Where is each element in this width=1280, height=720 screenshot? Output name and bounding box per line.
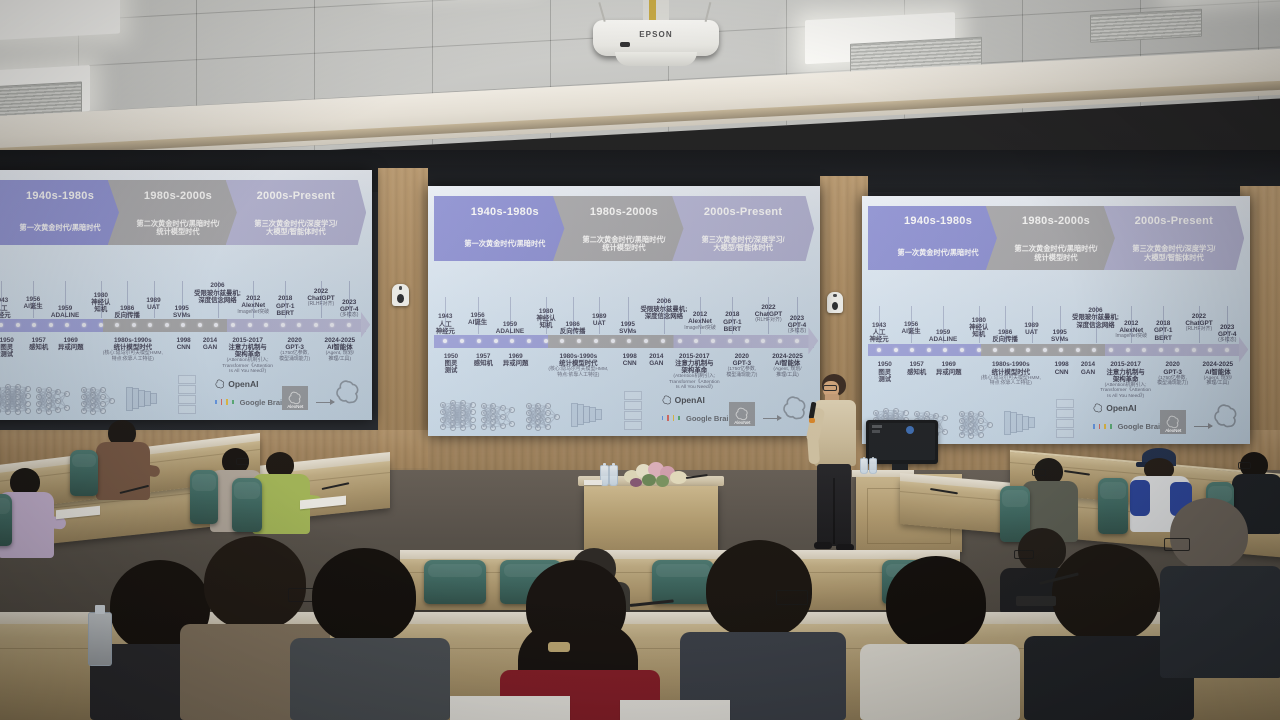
event-tick	[797, 297, 798, 334]
projection-screen-right: 1940s-1980s第一次黄金时代/黑暗时代1980s-2000s第二次黄金时…	[862, 196, 1250, 444]
event-tick	[1096, 306, 1097, 343]
podium-monitor	[866, 420, 938, 464]
network-edge	[452, 427, 462, 428]
cnn-layer	[150, 393, 157, 404]
water-bottle	[869, 458, 877, 474]
network-edge	[7, 411, 17, 412]
era-chevron-3: 2000s-Present第三次黄金时代/深度学习/大模型/智能体时代	[672, 196, 814, 261]
event-label: 异或问题	[936, 369, 962, 376]
cnn-layer	[595, 409, 602, 420]
era-chevron-2: 1980s-2000s第二次黄金时代/黑暗时代/统计模型时代	[108, 180, 249, 245]
cnn-diagram	[126, 387, 166, 413]
era-title: 1940s-1980s	[471, 206, 539, 218]
event-tick	[768, 297, 769, 334]
timeline-event-below: 1998CNN	[1055, 361, 1069, 375]
transformer-diagram	[178, 375, 194, 415]
event-label: CNN	[1055, 369, 1069, 376]
era-chevron-1: 1940s-1980s第一次黄金时代/黑暗时代	[0, 180, 130, 245]
monitor-badge	[906, 426, 914, 434]
ceiling-tile	[1258, 0, 1280, 49]
tumbler	[88, 612, 112, 666]
event-label: 异或问题	[503, 360, 529, 367]
event-tick	[510, 297, 511, 334]
event-year: 1998	[623, 353, 637, 360]
alexnet-logo: AlexNet	[729, 402, 755, 426]
event-tick	[664, 297, 665, 334]
neural-network-diagram	[440, 400, 476, 430]
era-subtitle: 第一次黄金时代/黑暗时代	[20, 224, 101, 232]
timeline-event-below: 1957感知机	[29, 337, 48, 351]
event-tick	[1032, 306, 1033, 343]
era-title: 2000s-Present	[257, 190, 336, 202]
event-tick	[218, 281, 219, 318]
timeline-arrow	[1239, 336, 1249, 363]
era-chevron-2: 1980s-2000s第二次黄金时代/黑暗时代/统计模型时代	[553, 196, 695, 261]
era-subtitle: 第二次黄金时代/黑暗时代/统计模型时代	[1014, 245, 1097, 262]
openai-logo: OpenAI	[662, 395, 705, 405]
event-tick	[285, 281, 286, 318]
ceiling-tile	[314, 46, 433, 99]
wood-wall-left	[378, 168, 428, 468]
event-label: 感知机	[474, 360, 493, 367]
neural-network-diagram	[36, 386, 70, 414]
neural-network-diagram	[959, 410, 993, 438]
timeline-arrow	[808, 327, 818, 354]
event-tick	[879, 306, 880, 343]
event-year: 2020	[279, 337, 310, 344]
alexnet-label: AlexNet	[734, 420, 750, 426]
transformer-diagram	[624, 391, 640, 431]
timeline-dot	[1126, 348, 1130, 352]
event-tick	[1227, 306, 1228, 343]
ceiling-tile	[432, 40, 551, 93]
event-tick	[628, 297, 629, 334]
era-title: 2000s-Present	[1135, 215, 1214, 227]
timeline-event-below: 1969异或问题	[936, 361, 962, 375]
event-label: 异或问题	[58, 344, 84, 351]
event-tick	[943, 306, 944, 343]
ceiling-tile	[314, 0, 433, 53]
era-title: 1980s-2000s	[144, 190, 212, 202]
chair	[190, 470, 218, 524]
head	[1170, 498, 1248, 570]
era-chevron-1: 1940s-1980s第一次黄金时代/黑暗时代	[868, 206, 1009, 270]
projection-screen-left: 1940s-1980s第一次黄金时代/黑暗时代1980s-2000s第二次黄金时…	[0, 170, 372, 420]
openai-label: OpenAI	[675, 395, 705, 405]
event-tick	[1060, 306, 1061, 343]
cnn-diagram	[571, 403, 611, 429]
era-subtitle: 第一次黄金时代/黑暗时代	[464, 240, 545, 248]
event-tick	[1, 281, 2, 318]
event-tick	[182, 281, 183, 318]
slide-era-header: 1940s-1980s第一次黄金时代/黑暗时代1980s-2000s第二次黄金时…	[434, 196, 814, 261]
transformer-block	[624, 401, 642, 410]
alexnet-logo: AlexNet	[1160, 410, 1186, 434]
google-brain-label: Google Brain	[240, 398, 287, 407]
projector-brand-label: EPSON	[593, 30, 719, 39]
audience-member-front	[290, 548, 450, 720]
era-title: 1940s-1980s	[904, 215, 972, 227]
timeline-event-below: 2014GAN	[649, 353, 663, 367]
torso	[1160, 566, 1280, 678]
glasses-icon	[823, 385, 837, 391]
event-tick	[911, 306, 912, 343]
slide-left: 1940s-1980s第一次黄金时代/黑暗时代1980s-2000s第二次黄金时…	[0, 170, 372, 420]
event-tick	[445, 297, 446, 334]
head	[706, 540, 812, 638]
water-bottle	[609, 465, 618, 486]
audience-member-front	[860, 556, 1020, 720]
timeline-event-below: 1969异或问题	[503, 353, 529, 367]
timeline-dot	[1159, 348, 1163, 352]
presenter	[806, 374, 866, 556]
openai-mark-icon	[1213, 403, 1239, 434]
projection-screen-center: 1940s-1980s第一次黄金时代/黑暗时代1980s-2000s第二次黄金时…	[428, 186, 820, 436]
event-year: 2014	[649, 353, 663, 360]
era-subtitle: 第三次黄金时代/深度学习/大模型/智能体时代	[1132, 245, 1215, 262]
glasses-icon	[1164, 538, 1190, 551]
timeline-event-below: 1950图灵测试	[444, 353, 458, 375]
openai-mark-icon	[782, 395, 808, 426]
transformer-block	[178, 375, 196, 384]
event-tick	[321, 281, 322, 318]
timeline-event-below: 1950图灵测试	[878, 361, 892, 383]
era-title: 1980s-2000s	[1022, 215, 1090, 227]
event-tick	[700, 297, 701, 334]
timeline-dot	[1010, 348, 1014, 352]
event-tick	[349, 281, 350, 318]
arrow-icon	[316, 402, 334, 403]
cnn-layer	[1028, 417, 1035, 428]
transformer-diagram	[1056, 399, 1072, 439]
event-tick	[732, 297, 733, 334]
era-title: 1940s-1980s	[26, 190, 94, 202]
timeline-bar	[868, 344, 1244, 357]
event-year: 2020	[1157, 361, 1188, 368]
era-subtitle: 第二次黄金时代/黑暗时代/统计模型时代	[136, 220, 219, 237]
flower-arrangement	[622, 460, 692, 488]
alexnet-logo: AlexNet	[282, 386, 308, 410]
glasses-icon	[776, 590, 808, 605]
alexnet-label: AlexNet	[287, 404, 303, 410]
era-subtitle: 第一次黄金时代/黑暗时代	[898, 249, 979, 257]
audience-member	[96, 420, 154, 500]
timeline-event-below: 2014GAN	[1081, 361, 1095, 375]
event-label: GAN	[649, 360, 663, 367]
arrow-icon	[763, 418, 781, 419]
transformer-block	[178, 405, 196, 414]
alexnet-label: AlexNet	[1165, 428, 1181, 434]
transformer-block	[178, 395, 196, 404]
event-tick	[101, 281, 102, 318]
event-label: CNN	[177, 344, 191, 351]
event-tick	[979, 306, 980, 343]
timeline-dot	[977, 348, 981, 352]
slide-right: 1940s-1980s第一次黄金时代/黑暗时代1980s-2000s第二次黄金时…	[862, 196, 1250, 444]
projector: EPSON	[593, 18, 719, 66]
timeline-event-below: 1950图灵测试	[0, 337, 14, 359]
event-year: 2020	[726, 353, 757, 360]
arm	[1130, 480, 1150, 516]
neural-network-diagram	[526, 402, 560, 430]
google-brain-logo: Google Brain	[1093, 422, 1164, 431]
event-year: 1998	[1055, 361, 1069, 368]
glasses-icon	[1032, 469, 1046, 476]
timeline-dot	[894, 348, 898, 352]
event-tick	[599, 297, 600, 334]
openai-mark-icon	[335, 379, 361, 410]
event-tick	[33, 281, 34, 318]
timeline-event-below: 1998CNN	[177, 337, 191, 351]
paper	[450, 696, 570, 720]
head	[886, 556, 986, 650]
timeline-event-below: 1969异或问题	[58, 337, 84, 351]
transformer-block	[1056, 419, 1074, 428]
presenter-arm-lower	[807, 434, 820, 465]
event-tick	[1199, 306, 1200, 343]
arrow-icon	[1194, 426, 1212, 427]
era-title: 1980s-2000s	[590, 206, 658, 218]
neural-network-diagram	[481, 402, 515, 430]
slide-logos: OpenAIGoogle BrainAlexNet	[436, 372, 812, 432]
wall-speaker-mid	[827, 292, 843, 313]
transformer-block	[624, 391, 642, 400]
glasses-icon	[1238, 462, 1251, 469]
google-brain-label: Google Brain	[1118, 422, 1165, 431]
openai-label: OpenAI	[1106, 403, 1136, 413]
event-label: 感知机	[907, 369, 926, 376]
paper	[620, 700, 730, 720]
era-subtitle: 第二次黄金时代/黑暗时代/统计模型时代	[582, 236, 665, 253]
ceiling-tile	[196, 7, 315, 60]
torso	[860, 644, 1020, 720]
slide-logos: OpenAIGoogle BrainAlexNet	[0, 356, 364, 416]
transformer-block	[1056, 409, 1074, 418]
openai-logo: OpenAI	[1093, 403, 1136, 413]
head	[312, 548, 416, 644]
chair	[1098, 478, 1128, 534]
chair	[232, 478, 262, 532]
event-tick	[65, 281, 66, 318]
mic-base	[1016, 596, 1056, 606]
timeline-bar	[434, 335, 814, 348]
audience-member-front	[680, 540, 846, 720]
audience-member-front	[1160, 498, 1280, 678]
era-subtitle: 第三次黄金时代/深度学习/大模型/智能体时代	[254, 220, 337, 237]
event-tick	[573, 297, 574, 334]
slide-era-header: 1940s-1980s第一次黄金时代/黑暗时代1980s-2000s第二次黄金时…	[868, 206, 1244, 270]
transformer-block	[624, 411, 642, 420]
event-tick	[253, 281, 254, 318]
timeline-event-below: 2014GAN	[203, 337, 217, 351]
event-label: GAN	[203, 344, 217, 351]
chair	[0, 494, 12, 546]
event-label: 感知机	[29, 344, 48, 351]
timeline-arrow	[361, 311, 371, 338]
timeline-dot	[1043, 348, 1047, 352]
ceiling-tile	[1022, 100, 1141, 153]
lecture-hall-photo: EPSON 1940s-1980s第一次黄金时代/黑暗时代1980s-2000s…	[0, 0, 1280, 720]
transformer-block	[1056, 429, 1074, 438]
paper	[584, 480, 602, 485]
era-title: 2000s-Present	[704, 206, 783, 218]
google-brain-label: Google Brain	[686, 414, 733, 423]
hair-clip	[548, 642, 570, 652]
cnn-diagram	[1004, 411, 1044, 437]
google-brain-logo: Google Brain	[215, 398, 286, 407]
transformer-block	[624, 421, 642, 430]
neural-network-diagram	[0, 384, 31, 414]
event-tick	[546, 297, 547, 334]
transformer-block	[1056, 399, 1074, 408]
wall-speaker-left	[392, 284, 409, 306]
era-chevron-1: 1940s-1980s第一次黄金时代/黑暗时代	[434, 196, 576, 261]
event-tick	[1163, 306, 1164, 343]
event-tick	[1005, 306, 1006, 343]
slide-era-header: 1940s-1980s第一次黄金时代/黑暗时代1980s-2000s第二次黄金时…	[0, 180, 366, 245]
neural-network-diagram	[81, 386, 115, 414]
event-label: CNN	[623, 360, 637, 367]
event-year: 2014	[203, 337, 217, 344]
event-tick	[154, 281, 155, 318]
event-year: 1998	[177, 337, 191, 344]
event-year: 2014	[1081, 361, 1095, 368]
era-subtitle: 第三次黄金时代/深度学习/大模型/智能体时代	[702, 236, 785, 253]
ceiling-tile	[1140, 94, 1259, 147]
event-label: GAN	[1081, 369, 1095, 376]
slide-center: 1940s-1980s第一次黄金时代/黑暗时代1980s-2000s第二次黄金时…	[428, 186, 820, 436]
event-tick	[478, 297, 479, 334]
glasses-icon	[236, 458, 249, 465]
event-tick	[1131, 306, 1132, 343]
timeline-event-below: 1998CNN	[623, 353, 637, 367]
timeline-event-below: 1957感知机	[474, 353, 493, 367]
openai-label: OpenAI	[228, 379, 258, 389]
microphone-tip	[809, 418, 815, 423]
era-chevron-2: 1980s-2000s第二次黄金时代/黑暗时代/统计模型时代	[986, 206, 1127, 270]
era-chevron-3: 2000s-Present第三次黄金时代/深度学习/大模型/智能体时代	[226, 180, 367, 245]
timeline-event-below: 1957感知机	[907, 361, 926, 375]
event-tick	[127, 281, 128, 318]
era-chevron-3: 2000s-Present第三次黄金时代/深度学习/大模型/智能体时代	[1104, 206, 1245, 270]
google-brain-logo: Google Brain	[662, 414, 733, 423]
ceiling-tile	[196, 53, 315, 106]
head	[1052, 544, 1160, 642]
openai-logo: OpenAI	[215, 379, 258, 389]
torso	[290, 638, 450, 720]
transformer-block	[178, 385, 196, 394]
chair	[70, 450, 98, 496]
ceiling-tile	[78, 59, 197, 112]
